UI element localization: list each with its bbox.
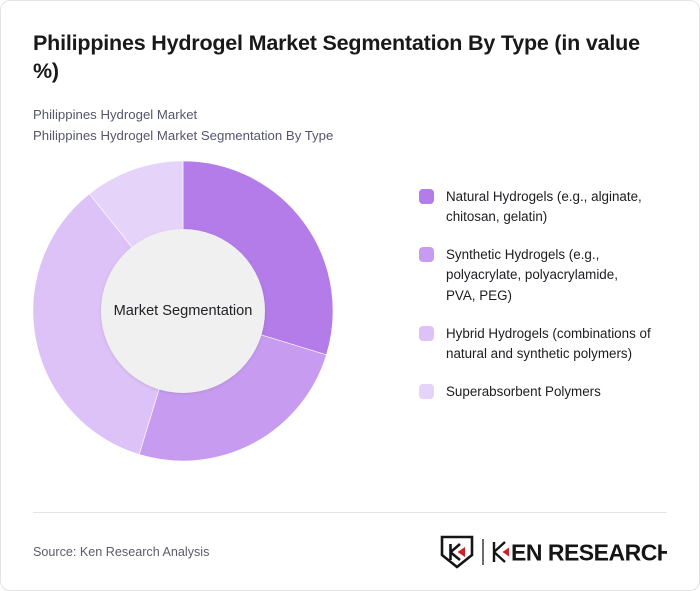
logo-shield-icon (442, 537, 472, 567)
chart-legend: Natural Hydrogels (e.g., alginate, chito… (419, 187, 667, 420)
legend-swatch-icon (419, 326, 434, 341)
subtitle-segmentation: Philippines Hydrogel Market Segmentation… (33, 125, 667, 146)
legend-label: Synthetic Hydrogels (e.g., polyacrylate,… (446, 245, 651, 307)
subtitle-market: Philippines Hydrogel Market (33, 104, 667, 125)
logo-text: EN RESEARCH (511, 539, 667, 565)
legend-label: Superabsorbent Polymers (446, 382, 601, 403)
legend-label: Natural Hydrogels (e.g., alginate, chito… (446, 187, 651, 228)
ken-research-logo: EN RESEARCH (439, 535, 667, 569)
legend-swatch-icon (419, 384, 434, 399)
legend-swatch-icon (419, 247, 434, 262)
logo-wordmark: EN RESEARCH (494, 539, 667, 565)
source-note: Source: Ken Research Analysis (33, 545, 209, 559)
legend-item-2[interactable]: Synthetic Hydrogels (e.g., polyacrylate,… (419, 245, 667, 307)
page-title: Philippines Hydrogel Market Segmentation… (33, 29, 667, 86)
chart-body: Market Segmentation Natural Hydrogels (e… (1, 161, 699, 481)
logo-svg: EN RESEARCH (439, 535, 667, 569)
donut-chart: Market Segmentation (33, 161, 333, 461)
legend-label: Hybrid Hydrogels (combinations of natura… (446, 324, 651, 365)
chart-card: Philippines Hydrogel Market Segmentation… (0, 0, 700, 591)
donut-svg (33, 161, 333, 461)
subtitle-group: Philippines Hydrogel Market Philippines … (33, 104, 667, 147)
legend-item-4[interactable]: Superabsorbent Polymers (419, 382, 667, 403)
donut-center-hole (101, 229, 265, 393)
legend-item-3[interactable]: Hybrid Hydrogels (combinations of natura… (419, 324, 667, 365)
legend-swatch-icon (419, 189, 434, 204)
legend-item-1[interactable]: Natural Hydrogels (e.g., alginate, chito… (419, 187, 667, 228)
chart-header: Philippines Hydrogel Market Segmentation… (1, 1, 699, 147)
footer-row: Source: Ken Research Analysis EN RESEARC… (33, 513, 667, 590)
chart-footer: Source: Ken Research Analysis EN RESEARC… (1, 512, 699, 590)
